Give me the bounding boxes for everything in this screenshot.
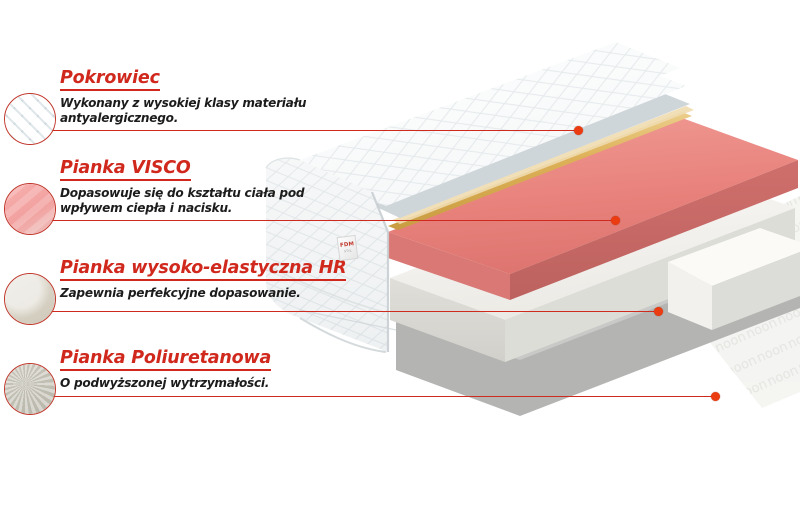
callout-description-pokrowiec: Wykonany z wysokiej klasy materiału anty… [60,96,360,126]
leader-line-pianka-poliuretanowa [48,396,718,397]
fdm-brand-subtext: STYL [344,250,352,254]
callout-dot-pokrowiec [574,126,583,135]
grey-polyurethane-foam-swatch [4,363,56,415]
beige-hr-foam-swatch [4,273,56,325]
fdm-brand-label-tag: FDM STYL [337,235,359,261]
callout-dot-pianka-poliuretanowa [711,392,720,401]
leader-line-pianka-hr [48,311,660,312]
leader-line-pokrowiec [48,130,580,131]
swatch-fill [5,184,55,234]
callout-description-pianka-hr: Zapewnia perfekcyjne dopasowanie. [60,286,360,301]
callout-title-pokrowiec: Pokrowiec [60,68,160,91]
mattress-layers-infographic: noon [0,0,800,513]
callout-title-pianka-visco: Pianka VISCO [60,158,191,181]
swatch-fill [5,94,55,144]
callout-pianka-poliuretanowa: Pianka Poliuretanowa O podwyższonej wytr… [60,348,360,391]
callout-description-pianka-visco: Dopasowuje się do kształtu ciała pod wpł… [60,186,360,216]
callout-pianka-hr: Pianka wysoko-elastyczna HR Zapewnia per… [60,258,360,301]
leader-line-pianka-visco [48,220,618,221]
callout-title-pianka-poliuretanowa: Pianka Poliuretanowa [60,348,271,371]
fdm-brand-text: FDM [340,242,355,249]
callout-title-pianka-hr: Pianka wysoko-elastyczna HR [60,258,346,281]
pink-visco-foam-swatch [4,183,56,235]
swatch-fill [5,364,55,414]
callout-dot-pianka-visco [611,216,620,225]
callout-pokrowiec: Pokrowiec Wykonany z wysokiej klasy mate… [60,68,360,126]
callout-dot-pianka-hr [654,307,663,316]
swatch-fill [5,274,55,324]
callout-pianka-visco: Pianka VISCO Dopasowuje się do kształtu … [60,158,360,216]
callout-description-pianka-poliuretanowa: O podwyższonej wytrzymałości. [60,376,360,391]
quilted-fabric-swatch [4,93,56,145]
